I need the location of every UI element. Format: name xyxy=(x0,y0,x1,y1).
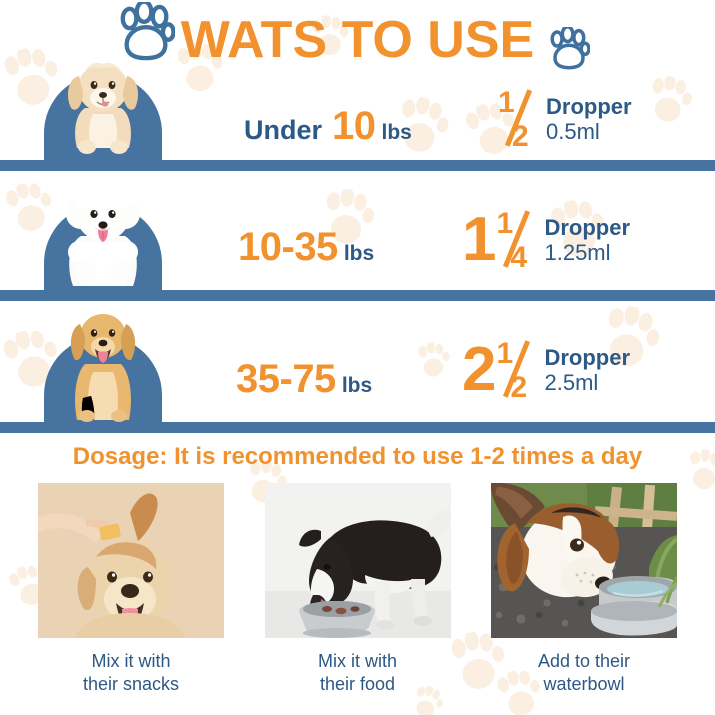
photo-dog-treat xyxy=(38,483,224,638)
dosage-infographic: WATS TO USE xyxy=(0,0,715,715)
weight-value: 10 xyxy=(332,104,376,149)
dose-label-line2: 1.25ml xyxy=(544,240,630,265)
dose-label-line1: Dropper xyxy=(544,345,630,370)
dose-denominator: 4 xyxy=(510,243,527,273)
weight-range-1: Under 10 lbs xyxy=(244,104,412,149)
usage-panel-food: Mix it with their food xyxy=(265,483,451,715)
dose-row: Under 10 lbs 1 2 Dropper 0.5ml xyxy=(0,76,715,171)
dose-label-line1: Dropper xyxy=(544,215,630,240)
row-divider-band xyxy=(0,422,715,433)
dose-label-1: Dropper 0.5ml xyxy=(546,94,632,145)
usage-panels: Mix it with their snacks xyxy=(0,483,715,715)
dog-photo-2 xyxy=(44,170,162,290)
weight-unit: lbs xyxy=(382,121,412,145)
usage-caption: Add to their waterbowl xyxy=(538,650,630,695)
dose-whole-number: 2 xyxy=(462,339,494,401)
dose-denominator: 2 xyxy=(512,122,529,152)
usage-caption: Mix it with their food xyxy=(318,650,397,695)
usage-panel-snacks: Mix it with their snacks xyxy=(38,483,224,715)
dose-label-line2: 0.5ml xyxy=(546,119,632,144)
dog-photo-3 xyxy=(44,300,162,422)
dose-whole-number: 1 xyxy=(462,209,494,271)
dose-fraction-stack: 1 4 xyxy=(494,209,534,271)
weight-unit: lbs xyxy=(344,242,374,266)
page-title-text: WATS TO USE xyxy=(181,14,534,66)
dose-fraction: 1 2 xyxy=(496,88,536,150)
golden-retriever-illustration xyxy=(55,302,151,422)
photo-beagle-drinking xyxy=(491,483,677,638)
dose-fraction: 2 1 2 xyxy=(462,339,534,401)
weight-value: 10-35 xyxy=(238,225,338,270)
dose-label-2: Dropper 1.25ml xyxy=(544,215,630,266)
dose-denominator: 2 xyxy=(510,373,527,403)
dose-amount-3: 2 1 2 Dropper 2.5ml xyxy=(462,339,630,401)
dose-label-3: Dropper 2.5ml xyxy=(544,345,630,396)
dog-photo-1 xyxy=(44,65,162,160)
page-title: WATS TO USE xyxy=(0,4,715,76)
dose-fraction-stack: 1 2 xyxy=(496,88,536,150)
dose-row: 10-35 lbs 1 1 4 Dropper 1.25ml xyxy=(0,181,715,301)
dose-label-line2: 2.5ml xyxy=(544,370,630,395)
weight-value: 35-75 xyxy=(236,357,336,402)
dose-label-line1: Dropper xyxy=(546,94,632,119)
dose-amount-2: 1 1 4 Dropper 1.25ml xyxy=(462,209,630,271)
dosage-note: Dosage: It is recommended to use 1-2 tim… xyxy=(0,443,715,471)
weight-unit: lbs xyxy=(342,374,372,398)
usage-panel-water: Add to their waterbowl xyxy=(491,483,677,715)
dose-fraction-stack: 1 2 xyxy=(494,339,534,401)
usage-caption: Mix it with their snacks xyxy=(83,650,179,695)
weight-range-2: 10-35 lbs xyxy=(238,225,374,270)
dose-fraction: 1 1 4 xyxy=(462,209,534,271)
white-bichon-illustration xyxy=(51,178,155,290)
dose-amount-1: 1 2 Dropper 0.5ml xyxy=(496,88,632,150)
weight-range-3: 35-75 lbs xyxy=(236,357,372,402)
dose-row: 35-75 lbs 2 1 2 Dropper 2.5ml xyxy=(0,311,715,433)
photo-husky-eating xyxy=(265,483,451,638)
weight-prefix: Under xyxy=(244,115,322,146)
